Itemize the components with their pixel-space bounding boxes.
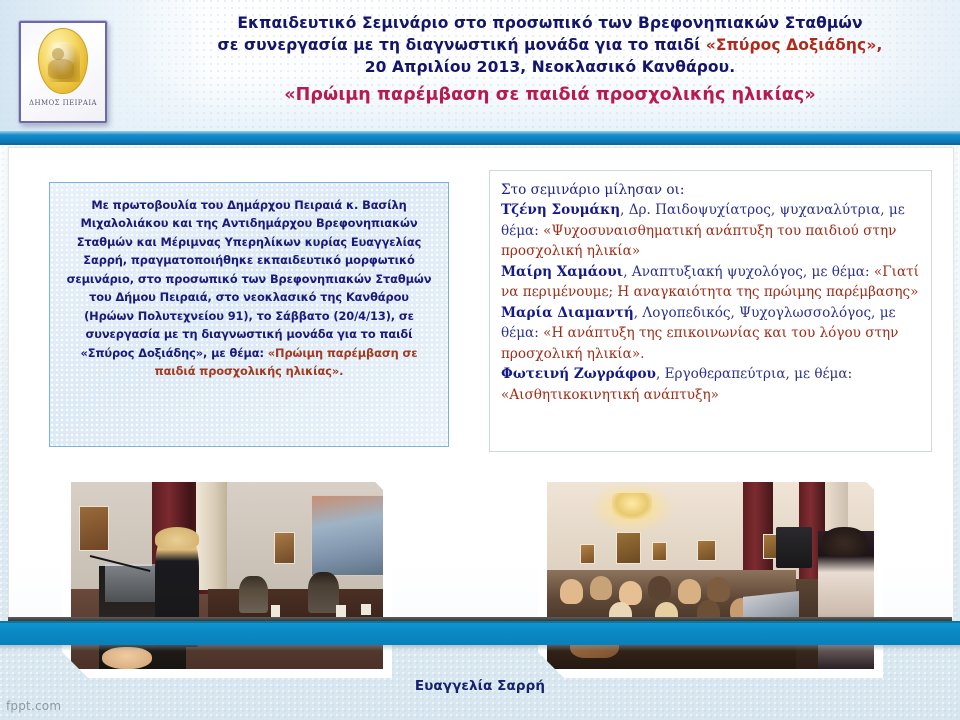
header-line-3: 20 Απριλίου 2013, Νεοκλασικό Κανθάρου. <box>150 56 950 78</box>
seminar-title: «Πρώιμη παρέμβαση σε παιδιά προσχολικής … <box>150 83 950 108</box>
intro-body-text: Με πρωτοβουλία του Δημάρχου Πειραιά κ. Β… <box>67 198 432 360</box>
municipality-seal-icon <box>38 28 88 94</box>
speaker-name: Μαίρη Χαμάουι <box>501 264 623 280</box>
slide-canvas: ΔΗΜΟΣ ΠΕΙΡΑΙΑ Εκπαιδευτικό Σεμινάριο στο… <box>0 0 960 720</box>
intro-text-box: Με πρωτοβουλία του Δημάρχου Πειραιά κ. Β… <box>49 182 449 447</box>
speaker-role: , Εργοθεραπεύτρια, με θέμα: <box>656 366 852 382</box>
speaker-topic: «Ψυχοσυναισθηματική ανάπτυξη του παιδιού… <box>501 223 896 259</box>
speaker-entry: Μαρία Διαμαντή, Λογοπεδικός, Ψυχογλωσσολ… <box>501 303 921 364</box>
watermark: fppt.com <box>6 699 61 713</box>
header-line-1: Εκπαιδευτικό Σεμινάριο στο προσωπικό των… <box>150 12 950 34</box>
speaker-role: , Αναπτυξιακή ψυχολόγος, με θέμα: <box>623 264 874 280</box>
speakers-text-box: Στο σεμινάριο μίλησαν οι: Τζένη Σουμάκη,… <box>489 170 932 452</box>
speakers-intro: Στο σεμινάριο μίλησαν οι: <box>501 180 921 200</box>
header-line-2: σε συνεργασία με τη διαγνωστική μονάδα γ… <box>150 34 950 56</box>
photo-caption: Ευαγγελία Σαρρή <box>0 678 960 694</box>
header-title-block: Εκπαιδευτικό Σεμινάριο στο προσωπικό των… <box>150 12 950 108</box>
piraeus-municipality-logo: ΔΗΜΟΣ ΠΕΙΡΑΙΑ <box>19 21 107 123</box>
footer-blue-bar <box>0 621 960 645</box>
seal-figure-icon <box>46 42 80 82</box>
logo-caption: ΔΗΜΟΣ ΠΕΙΡΑΙΑ <box>29 99 97 107</box>
speaker-topic: «Η ανάπτυξη της επικοινωνίας και του λόγ… <box>501 325 898 361</box>
footer-shadow <box>0 645 960 651</box>
speaker-entry: Τζένη Σουμάκη, Δρ. Παιδοψυχίατρος, ψυχαν… <box>501 200 921 261</box>
speaker-entry: Μαίρη Χαμάουι, Αναπτυξιακή ψυχολόγος, με… <box>501 262 921 303</box>
speaker-name: Μαρία Διαμαντή <box>501 305 634 321</box>
header-line-2-highlight: «Σπύρος Δοξιάδης», <box>706 36 883 54</box>
intro-paragraph: Με πρωτοβουλία του Δημάρχου Πειραιά κ. Β… <box>66 196 432 381</box>
header-line-2-text: σε συνεργασία με τη διαγνωστική μονάδα γ… <box>218 36 706 54</box>
header-divider-highlight <box>0 131 960 135</box>
speaker-name: Φωτεινή Ζωγράφου <box>501 366 656 382</box>
speaker-entry: Φωτεινή Ζωγράφου, Εργοθεραπεύτρια, με θέ… <box>501 364 921 405</box>
speaker-name: Τζένη Σουμάκη <box>501 202 620 218</box>
speaker-topic: «Αισθητικοκινητική ανάπτυξη» <box>501 387 719 403</box>
